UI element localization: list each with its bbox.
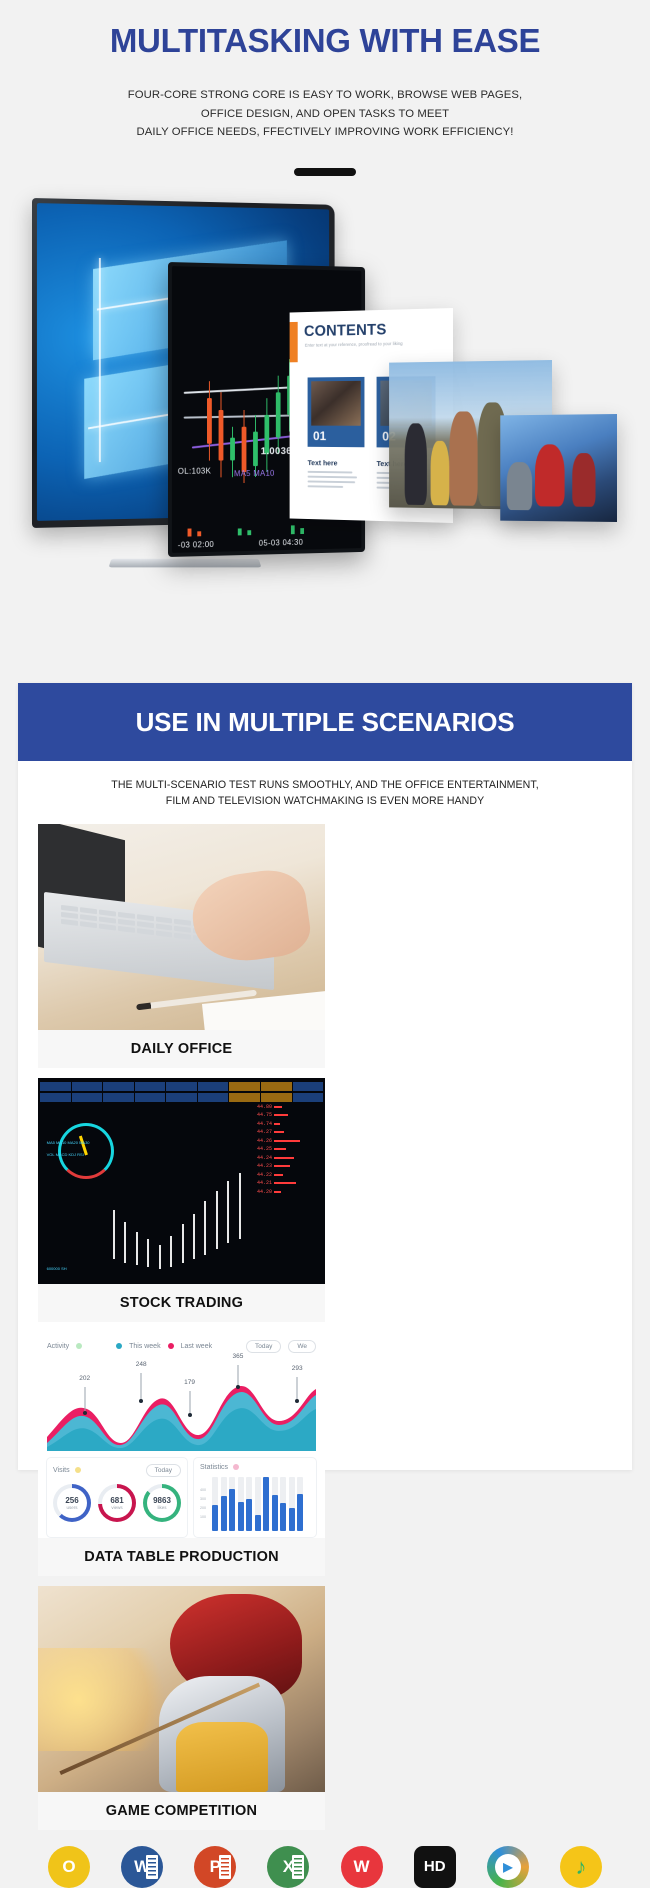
volume-label: OL:103K [178,466,211,475]
statistics-y-axis: 400 300 200 100 [200,1486,206,1522]
product-detail-page: MULTITASKING WITH EASE FOUR-CORE STRONG … [0,0,650,1492]
bar-track [229,1477,235,1531]
statistics-status-icon [233,1464,239,1470]
donut-likes-value: 9863 [153,1496,171,1505]
analytics-dashboard: Activity This week Last week Today We [38,1332,325,1538]
page-title: MULTITASKING WITH EASE [0,22,650,60]
statistics-label: Statistics [200,1464,228,1471]
music-player-icon-label: ♪ [575,1854,586,1880]
ma-purple-label: MA5 MA10 [234,468,275,477]
bar-track [212,1477,218,1531]
slide-heading-1: Text here [308,458,338,467]
dashboard-lower-panels: Visits Today 256 users [47,1458,316,1537]
visits-filter-button[interactable]: Today [146,1464,181,1477]
title-divider [294,168,356,176]
range-button-today[interactable]: Today [246,1340,281,1353]
y-tick-300: 300 [200,1495,206,1504]
legend-label-last-week: Last week [181,1343,213,1350]
bar-track [280,1477,286,1531]
activity-label: Activity [47,1343,69,1350]
movie-screenshot-layer [500,414,617,522]
scenarios-section: USE IN MULTIPLE SCENARIOS THE MULTI-SCEN… [18,683,632,1470]
scenario-card-grid: DAILY OFFICE [18,810,632,1830]
scenario-label-game-competition: GAME COMPETITION [38,1792,325,1830]
word-icon[interactable]: W [121,1846,163,1888]
statistics-bar-chart [200,1477,310,1531]
activity-value-5: 293 [292,1365,303,1372]
scenarios-subtitle-line-1: THE MULTI-SCENARIO TEST RUNS SMOOTHLY, A… [52,777,598,793]
app-icon-row: O W P X W HD ▶ ♪ [18,1830,632,1888]
activity-status-icon [76,1343,82,1349]
activity-value-2: 248 [136,1361,147,1368]
slide-card-1: 01 [308,377,365,447]
bar-track [272,1477,278,1531]
bar-track [289,1477,295,1531]
scenarios-subtitle-line-2: FILM AND TELEVISION WATCHMAKING IS EVEN … [52,793,598,809]
bar-track [263,1477,269,1531]
range-button-week[interactable]: We [288,1340,316,1353]
scenario-card-daily-office[interactable]: DAILY OFFICE [38,824,325,1068]
slide-accent-bar [290,322,298,362]
scenario-label-stock-trading: STOCK TRADING [38,1284,325,1322]
donut-users-caption: users [66,1505,77,1510]
scenarios-subtitle: THE MULTI-SCENARIO TEST RUNS SMOOTHLY, A… [18,761,632,810]
price-ticker: 44.80 44.75 44.74 44.27 44.26 44.25 44.2… [257,1104,323,1198]
stock-trading-software: 44.80 44.75 44.74 44.27 44.26 44.25 44.2… [38,1078,325,1284]
music-player-icon[interactable]: ♪ [560,1846,602,1888]
hd-video-icon-label: HD [424,1858,446,1875]
donut-views-value: 681 [110,1496,123,1505]
donut-likes: 9863 likes [143,1484,181,1522]
scenarios-banner-title: USE IN MULTIPLE SCENARIOS [136,707,515,738]
donut-views-caption: views [111,1505,122,1510]
time-label-2: 05-03 04:30 [259,538,303,548]
activity-header: Activity This week Last week Today We [47,1340,316,1353]
activity-value-1: 202 [79,1375,90,1382]
wps-icon-label: W [354,1857,370,1877]
visits-panel: Visits Today 256 users [47,1458,187,1537]
visits-status-icon [75,1467,81,1473]
bar-track [255,1477,261,1531]
slide-subtitle: Enter text at your reference, proofread … [305,341,403,348]
scenario-card-stock-trading[interactable]: 44.80 44.75 44.74 44.27 44.26 44.25 44.2… [38,1078,325,1322]
slide-card-1-number: 01 [313,428,326,443]
y-tick-400: 400 [200,1486,206,1495]
scenario-card-game-competition[interactable]: GAME COMPETITION [38,1586,325,1830]
media-player-icon[interactable]: ▶ [487,1846,529,1888]
bar-track [238,1477,244,1531]
y-tick-100: 100 [200,1513,206,1522]
hero-subtitle-line-2: OFFICE DESIGN, AND OPEN TASKS TO MEET [0,105,650,124]
donut-likes-caption: likes [157,1505,166,1510]
donut-users-value: 256 [65,1496,78,1505]
y-tick-200: 200 [200,1504,206,1513]
scenario-label-daily-office: DAILY OFFICE [38,1030,325,1068]
statistics-panel: Statistics 400 300 200 100 [194,1458,316,1537]
slide-title: CONTENTS [304,321,387,340]
game-character-art [38,1586,325,1792]
outlook-icon[interactable]: O [48,1846,90,1888]
hero-section: MULTITASKING WITH EASE FOUR-CORE STRONG … [0,0,650,176]
device-showcase: 1.0036 OL:103K MA1 MA5 MA10 -03 02:00 05… [0,190,650,610]
legend-label-this-week: This week [129,1343,161,1350]
laptop-typing-photo [38,824,325,1030]
hero-subtitle-line-1: FOUR-CORE STRONG CORE IS EASY TO WORK, B… [0,86,650,105]
donut-views: 681 views [98,1484,136,1522]
time-label-1: -03 02:00 [178,540,214,550]
bar-track [221,1477,227,1531]
hero-subtitle: FOUR-CORE STRONG CORE IS EASY TO WORK, B… [0,86,650,142]
visits-label: Visits [53,1467,70,1474]
activity-value-4: 365 [233,1353,244,1360]
media-player-icon-label: ▶ [495,1854,521,1880]
scenario-label-data-table: DATA TABLE PRODUCTION [38,1538,325,1576]
activity-value-3: 179 [184,1379,195,1386]
legend-dot-this-week [116,1343,122,1349]
hero-subtitle-line-3: DAILY OFFICE NEEDS, FFECTIVELY IMPROVING… [0,123,650,142]
outlook-icon-label: O [62,1857,75,1877]
activity-area-chart: 202 248 179 365 293 [47,1359,316,1451]
powerpoint-icon[interactable]: P [194,1846,236,1888]
donut-users: 256 users [53,1484,91,1522]
excel-icon[interactable]: X [267,1846,309,1888]
legend-dot-last-week [168,1343,174,1349]
scenarios-banner: USE IN MULTIPLE SCENARIOS [18,683,632,761]
bar-track [297,1477,303,1531]
bar-track [246,1477,252,1531]
scenario-card-data-table[interactable]: Activity This week Last week Today We [38,1332,325,1576]
hd-video-icon[interactable]: HD [414,1846,456,1888]
wps-icon[interactable]: W [341,1846,383,1888]
